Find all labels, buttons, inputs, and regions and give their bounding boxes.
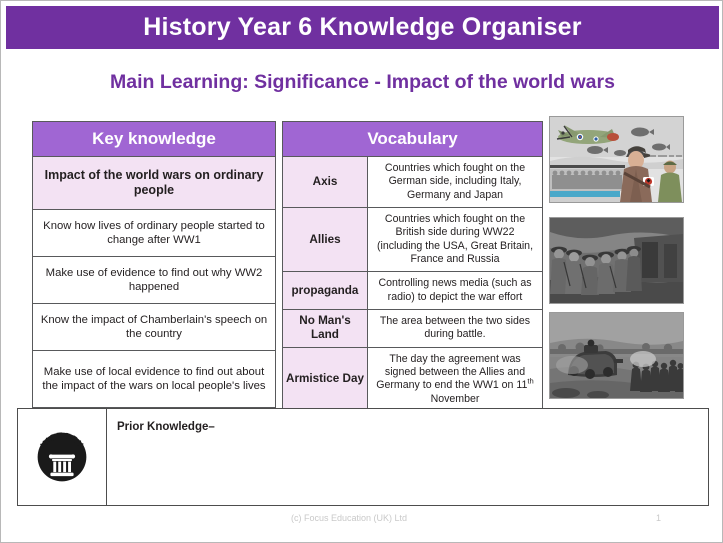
vocabulary-term-armistice-day: Armistice Day: [283, 347, 368, 411]
key-knowledge-item-1: Know how lives of ordinary people starte…: [33, 210, 276, 257]
key-knowledge-table: Key knowledge Impact of the world wars o…: [32, 121, 276, 455]
key-knowledge-item-3: Know the impact of Chamberlain's speech …: [33, 304, 276, 351]
vocabulary-definition-allies: Countries which fought on the British si…: [368, 208, 543, 272]
knowledge-organiser-page: History Year 6 Knowledge Organiser Main …: [0, 0, 723, 543]
vocabulary-term-propaganda: propaganda: [283, 272, 368, 310]
main-learning-subheading: Main Learning: Significance - Impact of …: [1, 71, 723, 94]
vocabulary-term-no-mans-land: No Man's Land: [283, 310, 368, 348]
table-row: Make use of local evidence to find out a…: [33, 351, 276, 408]
wwi-tank-photo: [549, 312, 684, 399]
prior-knowledge-box: HISTORY Prior Knowledge–: [17, 408, 709, 506]
page-banner: History Year 6 Knowledge Organiser: [6, 6, 719, 49]
table-subheader-row: Impact of the world wars on ordinary peo…: [33, 157, 276, 210]
armistice-text-after: November: [431, 393, 480, 405]
wwi-tank-photo-graphic: [550, 313, 683, 398]
table-row: Know the impact of Chamberlain's speech …: [33, 304, 276, 351]
page-title: History Year 6 Knowledge Organiser: [143, 15, 581, 40]
wwi-trench-photo-graphic: [550, 218, 683, 303]
wwii-bomber-illustration-graphic: [550, 117, 683, 202]
wwi-trench-photo: [549, 217, 684, 304]
table-row: No Man's Land The area between the two s…: [283, 310, 543, 348]
table-row: Make use of evidence to find out why WW2…: [33, 257, 276, 304]
table-row: Allies Countries which fought on the Bri…: [283, 208, 543, 272]
prior-knowledge-label: Prior Knowledge–: [117, 421, 215, 433]
key-knowledge-header: Key knowledge: [33, 122, 276, 157]
vocabulary-table: Vocabulary Axis Countries which fought o…: [282, 121, 543, 450]
vocabulary-header: Vocabulary: [283, 122, 543, 157]
table-row: Know how lives of ordinary people starte…: [33, 210, 276, 257]
vocabulary-definition-axis: Countries which fought on the German sid…: [368, 157, 543, 208]
footer-copyright: (c) Focus Education (UK) Ltd: [291, 513, 407, 523]
prior-knowledge-content[interactable]: Prior Knowledge–: [107, 409, 708, 505]
vocabulary-term-axis: Axis: [283, 157, 368, 208]
table-header-row: Vocabulary: [283, 122, 543, 157]
vocabulary-term-allies: Allies: [283, 208, 368, 272]
footer-page-number: 1: [656, 513, 661, 523]
key-knowledge-item-4: Make use of local evidence to find out a…: [33, 351, 276, 408]
wwii-bomber-illustration: [549, 116, 684, 203]
table-row: Armistice Day The day the agreement was …: [283, 347, 543, 411]
vocabulary-definition-armistice-day: The day the agreement was signed between…: [368, 347, 543, 411]
key-knowledge-item-2: Make use of evidence to find out why WW2…: [33, 257, 276, 304]
key-knowledge-subheader: Impact of the world wars on ordinary peo…: [33, 157, 276, 210]
table-row: propaganda Controlling news media (such …: [283, 272, 543, 310]
history-logo-icon: HISTORY: [33, 428, 91, 486]
armistice-text-before: The day the agreement was signed between…: [376, 353, 527, 392]
vocabulary-definition-no-mans-land: The area between the two sides during ba…: [368, 310, 543, 348]
table-row: Axis Countries which fought on the Germa…: [283, 157, 543, 208]
armistice-ordinal-suffix: th: [527, 377, 533, 386]
history-logo-cell: HISTORY: [18, 409, 107, 505]
vocabulary-definition-propaganda: Controlling news media (such as radio) t…: [368, 272, 543, 310]
table-header-row: Key knowledge: [33, 122, 276, 157]
